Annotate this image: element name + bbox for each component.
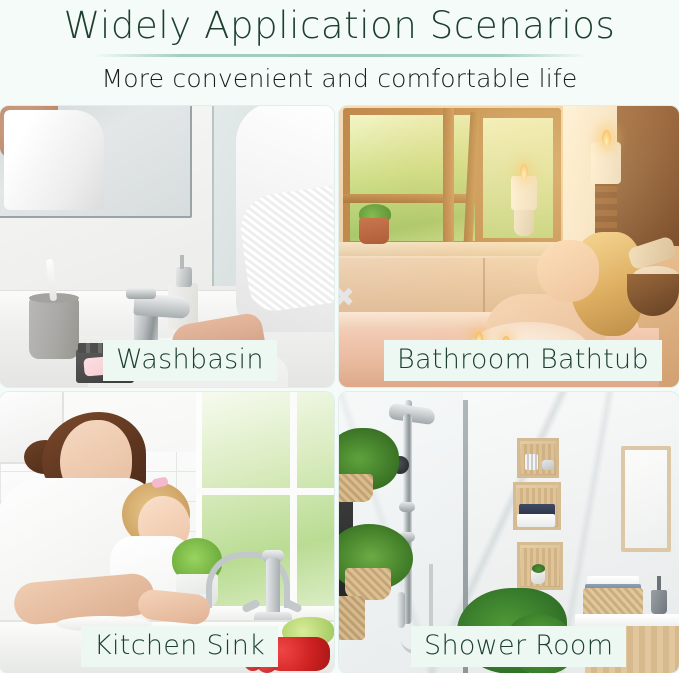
page-title: Widely Application Scenarios xyxy=(0,2,679,50)
caption-shower-room: Shower Room xyxy=(411,626,626,667)
soap-dispenser-pump xyxy=(176,267,192,287)
pillar-candle-medium xyxy=(511,176,537,210)
white-folded-towel xyxy=(517,514,555,527)
decor-jar xyxy=(525,454,538,470)
woven-basket-upper xyxy=(339,474,373,502)
window-mullion-vertical xyxy=(443,108,454,248)
caption-kitchen-sink: Kitchen Sink xyxy=(81,626,278,667)
terracotta-pot xyxy=(359,218,389,244)
page-subtitle: More convenient and comfortable life xyxy=(0,60,679,98)
candle-flame-large xyxy=(602,130,611,146)
kitchen-window-mullion-vertical xyxy=(290,392,297,630)
decor-dish xyxy=(542,460,554,470)
bathtub-tap-handle: ✖ xyxy=(339,284,359,310)
shower-knob-upper xyxy=(399,502,415,512)
scenario-panel-kitchen-sink[interactable]: Kitchen Sink xyxy=(0,392,334,673)
shower-handset xyxy=(397,592,405,628)
scenario-grid: Washbasin xyxy=(0,106,679,673)
framed-mirror xyxy=(621,446,671,552)
bathrobe-sleeve xyxy=(236,186,334,314)
small-potted-plant xyxy=(531,570,545,584)
faucet-handle xyxy=(126,288,156,299)
promo-banner: Widely Application Scenarios More conven… xyxy=(0,0,679,673)
woven-basket-floor xyxy=(339,596,365,640)
mirror xyxy=(0,106,192,218)
scenario-panel-washbasin[interactable]: Washbasin xyxy=(0,106,334,387)
candle-flame-medium xyxy=(520,164,528,179)
grey-tumbler xyxy=(651,590,667,614)
caption-bathtub: Bathroom Bathtub xyxy=(384,340,662,381)
bathrobe-reflection xyxy=(4,110,104,210)
pillar-candle-large xyxy=(591,142,621,184)
caption-washbasin: Washbasin xyxy=(103,340,277,381)
kitchen-window-mullion-horizontal xyxy=(196,488,334,495)
scenario-panel-shower-room[interactable]: Shower Room xyxy=(339,392,679,673)
bather-head xyxy=(537,240,599,302)
title-divider xyxy=(92,54,588,57)
scenario-panel-bathtub[interactable]: ✖ Bathroom Bathtub xyxy=(339,106,679,387)
candle-stand xyxy=(514,206,534,236)
header: Widely Application Scenarios More conven… xyxy=(0,0,679,104)
wooden-furniture xyxy=(617,106,679,246)
toothbrush-cup xyxy=(29,297,79,359)
